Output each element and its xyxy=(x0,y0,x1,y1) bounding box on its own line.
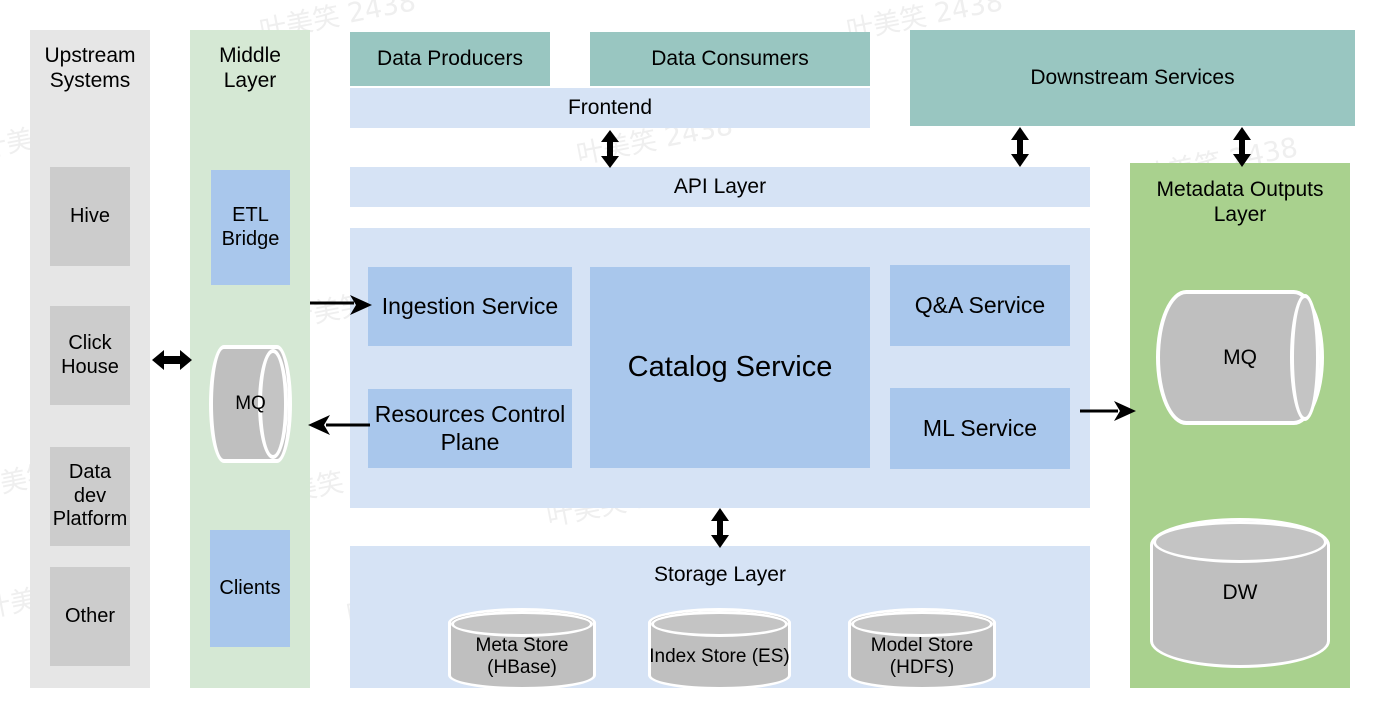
api-layer-label: API Layer xyxy=(674,175,766,200)
arrow-upstream-middle xyxy=(150,342,194,378)
outputs-item-label: MQ xyxy=(1223,346,1257,370)
outputs-item-label: DW xyxy=(1223,581,1258,606)
middle-item-label: MQ xyxy=(235,393,266,415)
storage-store-label: Index Store (ES) xyxy=(649,646,789,668)
frontend-box[interactable]: Frontend xyxy=(350,88,870,128)
api-layer-box[interactable]: API Layer xyxy=(350,167,1090,207)
data-producers-label: Data Producers xyxy=(377,47,523,72)
core-service-ingestion[interactable]: Ingestion Service xyxy=(368,267,572,346)
upstream-item-other[interactable]: Other xyxy=(50,567,130,666)
upstream-item-label: Data dev Platform xyxy=(50,461,130,532)
core-service-label: ML Service xyxy=(923,415,1037,442)
core-service-catalog[interactable]: Catalog Service xyxy=(590,267,870,468)
core-service-label: Q&A Service xyxy=(915,292,1045,319)
storage-store-label: Model Store (HDFS) xyxy=(848,635,996,680)
storage-store-meta[interactable]: Meta Store (HBase) xyxy=(448,608,596,690)
storage-store-index[interactable]: Index Store (ES) xyxy=(648,608,791,690)
middle-item-label: Clients xyxy=(219,577,280,601)
arrow-frontend-api xyxy=(595,129,625,169)
middle-item-etl-bridge[interactable]: ETL Bridge xyxy=(211,170,290,285)
downstream-services-box[interactable]: Downstream Services xyxy=(910,30,1355,126)
core-service-label: Catalog Service xyxy=(628,350,833,384)
arrow-middle-to-ingestion xyxy=(310,294,372,316)
data-producers-box[interactable]: Data Producers xyxy=(350,32,550,86)
middle-item-mq-cylinder[interactable]: MQ xyxy=(209,345,292,463)
middle-item-label: ETL Bridge xyxy=(211,204,290,251)
frontend-label: Frontend xyxy=(568,96,652,121)
arrow-downstream-api xyxy=(1005,126,1035,168)
upstream-item-data-dev-platform[interactable]: Data dev Platform xyxy=(50,447,130,546)
core-service-label: Ingestion Service xyxy=(382,293,558,320)
storage-store-model[interactable]: Model Store (HDFS) xyxy=(848,608,996,690)
upstream-systems-title: Upstream Systems xyxy=(30,44,150,94)
upstream-item-click-house[interactable]: Click House xyxy=(50,306,130,405)
middle-layer-title: Middle Layer xyxy=(190,44,310,94)
storage-store-label: Meta Store (HBase) xyxy=(448,635,596,680)
core-service-resources-control-plane[interactable]: Resources Control Plane xyxy=(368,389,572,468)
data-consumers-label: Data Consumers xyxy=(651,47,809,72)
outputs-item-mq-cylinder[interactable]: MQ xyxy=(1156,290,1324,425)
upstream-item-label: Hive xyxy=(70,205,110,229)
middle-item-clients[interactable]: Clients xyxy=(210,530,290,647)
upstream-item-hive[interactable]: Hive xyxy=(50,167,130,266)
upstream-item-label: Other xyxy=(65,605,115,629)
core-service-ml[interactable]: ML Service xyxy=(890,388,1070,469)
storage-layer-title: Storage Layer xyxy=(350,563,1090,588)
upstream-item-label: Click House xyxy=(50,332,130,379)
metadata-outputs-title: Metadata Outputs Layer xyxy=(1130,178,1350,228)
arrow-control-plane-to-mq xyxy=(306,414,370,436)
arrow-core-to-outputs xyxy=(1080,400,1136,422)
data-consumers-box[interactable]: Data Consumers xyxy=(590,32,870,86)
arrow-core-storage xyxy=(705,507,735,549)
core-service-label: Resources Control Plane xyxy=(368,401,572,455)
downstream-services-label: Downstream Services xyxy=(1030,66,1234,91)
architecture-diagram: 叶美笑 2438 叶美笑 2438 叶美笑 2438 叶美笑 2438 叶美笑 … xyxy=(0,0,1376,718)
outputs-item-dw-cylinder[interactable]: DW xyxy=(1150,518,1330,668)
core-service-qa[interactable]: Q&A Service xyxy=(890,265,1070,346)
arrow-downstream-outputs xyxy=(1227,126,1257,168)
